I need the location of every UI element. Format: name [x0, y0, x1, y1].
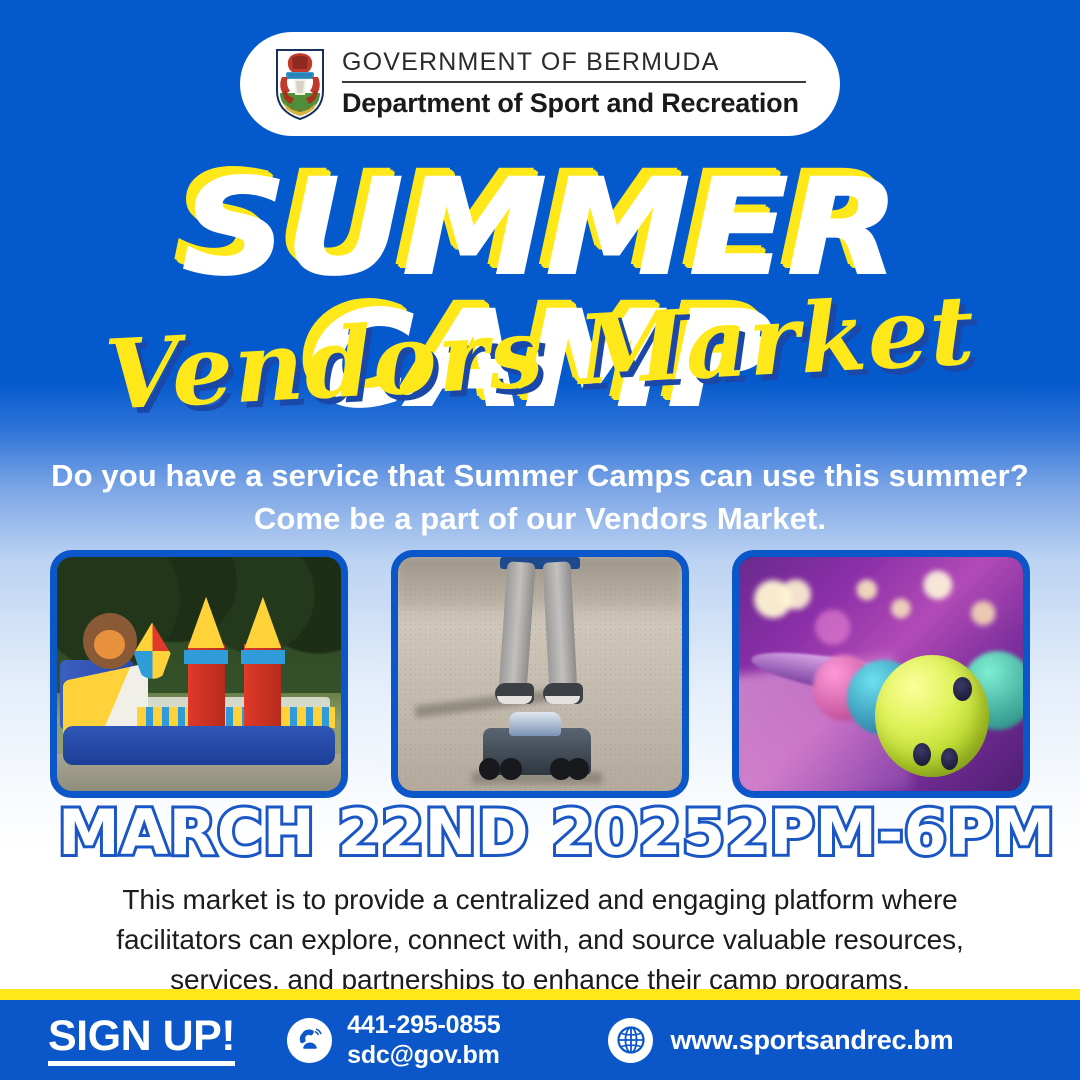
telephone-icon	[287, 1018, 332, 1063]
event-time: 2PM-6PM	[726, 802, 1056, 864]
event-date: MARCH 22ND 2025	[58, 802, 726, 864]
photo-row	[50, 550, 1030, 798]
bermuda-coat-of-arms-icon	[274, 47, 326, 121]
event-datetime-row: MARCH 22ND 2025 2PM-6PM	[40, 802, 1040, 864]
email-address[interactable]: sdc@gov.bm	[347, 1040, 500, 1071]
website-url[interactable]: www.sportsandrec.bm	[670, 1025, 953, 1056]
event-description: This market is to provide a centralized …	[90, 880, 990, 1000]
phone-number[interactable]: 441-295-0855	[347, 1010, 500, 1041]
description-line-1: This market is to provide a centralized …	[90, 880, 990, 920]
government-logo-banner: GOVERNMENT OF BERMUDA Department of Spor…	[240, 32, 840, 136]
bowling-photo	[732, 550, 1030, 798]
globe-icon	[608, 1018, 653, 1063]
yellow-divider	[0, 989, 1080, 1000]
intro-copy: Do you have a service that Summer Camps …	[40, 455, 1040, 541]
footer-bar: SIGN UP! 441-295-0855 sdc@gov.bm	[0, 1000, 1080, 1080]
description-line-2: facilitators can explore, connect with, …	[90, 920, 990, 960]
department-line: Department of Sport and Recreation	[342, 89, 806, 119]
website-contact[interactable]: www.sportsandrec.bm	[608, 1018, 953, 1063]
phone-contact[interactable]: 441-295-0855 sdc@gov.bm	[287, 1010, 500, 1071]
bouncy-castle-photo	[50, 550, 348, 798]
intro-line-2: Come be a part of our Vendors Market.	[40, 498, 1040, 541]
government-line: GOVERNMENT OF BERMUDA	[342, 49, 806, 77]
logo-divider	[342, 81, 806, 83]
summer-camp-vendors-market-flyer: GOVERNMENT OF BERMUDA Department of Spor…	[0, 0, 1080, 1080]
intro-line-1: Do you have a service that Summer Camps …	[40, 455, 1040, 498]
sign-up-link[interactable]: SIGN UP!	[48, 1015, 235, 1066]
rc-car-photo	[391, 550, 689, 798]
